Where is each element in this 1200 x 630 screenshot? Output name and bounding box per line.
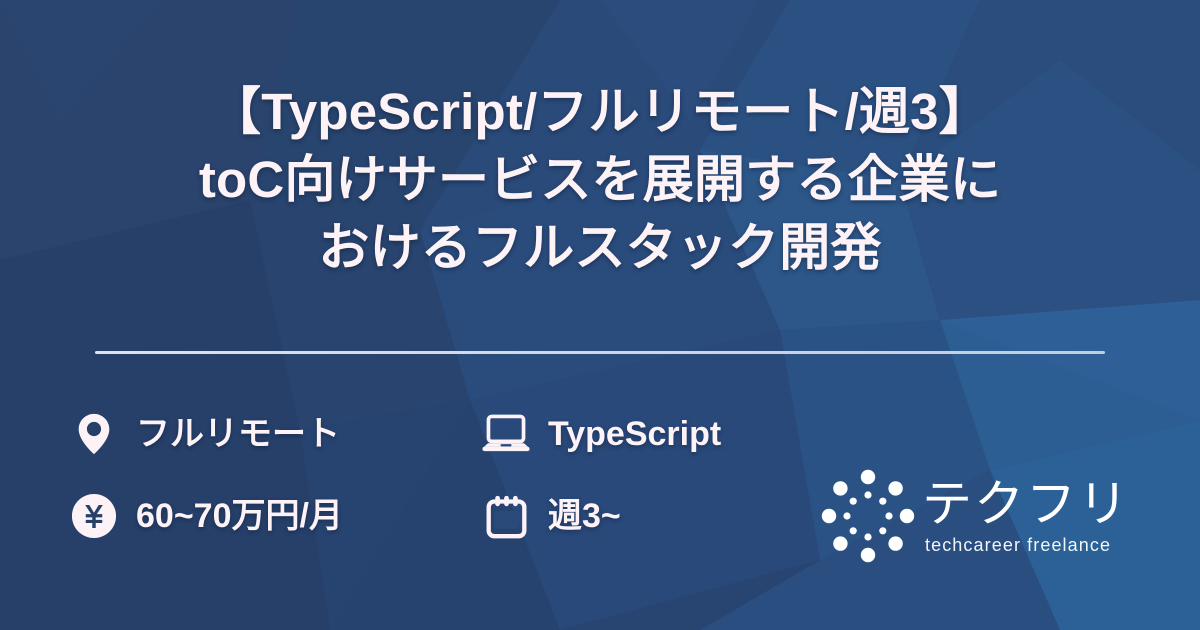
dot-cluster-icon [820,468,916,564]
location-pin-icon [66,406,122,462]
brand-logo: テクフリ techcareer freelance [820,468,1130,564]
job-posting-ogp-card: 【TypeScript/フルリモート/週3】 toC向けサービスを展開する企業に… [0,0,1200,630]
meta-label-skill: TypeScript [548,417,721,451]
laptop-icon [478,406,534,462]
job-meta-row: 60~70万円/月 週3~ [66,475,826,557]
logo-wordmark: テクフリ [922,476,1130,532]
job-meta-row: フルリモート TypeScript [66,393,826,475]
meta-label-salary: 60~70万円/月 [136,499,343,533]
calendar-icon [478,488,534,544]
yen-circle-icon [66,488,122,544]
meta-item-skill: TypeScript [478,406,721,462]
job-title-line-3: おけるフルスタック開発 [0,214,1200,282]
meta-label-work-style: フルリモート [136,417,340,451]
job-meta-grid: フルリモート TypeScript [66,393,826,557]
job-title-line-2: toC向けサービスを展開する企業に [0,146,1200,214]
job-title-line-1: 【TypeScript/フルリモート/週3】 [0,78,1200,146]
meta-label-workdays: 週3~ [548,499,621,533]
meta-item-workdays: 週3~ [478,488,621,544]
logo-tagline: techcareer freelance [925,534,1111,556]
horizontal-divider [95,351,1105,354]
meta-item-work-style: フルリモート [66,406,478,462]
meta-item-salary: 60~70万円/月 [66,488,478,544]
job-title: 【TypeScript/フルリモート/週3】 toC向けサービスを展開する企業に… [0,78,1200,282]
